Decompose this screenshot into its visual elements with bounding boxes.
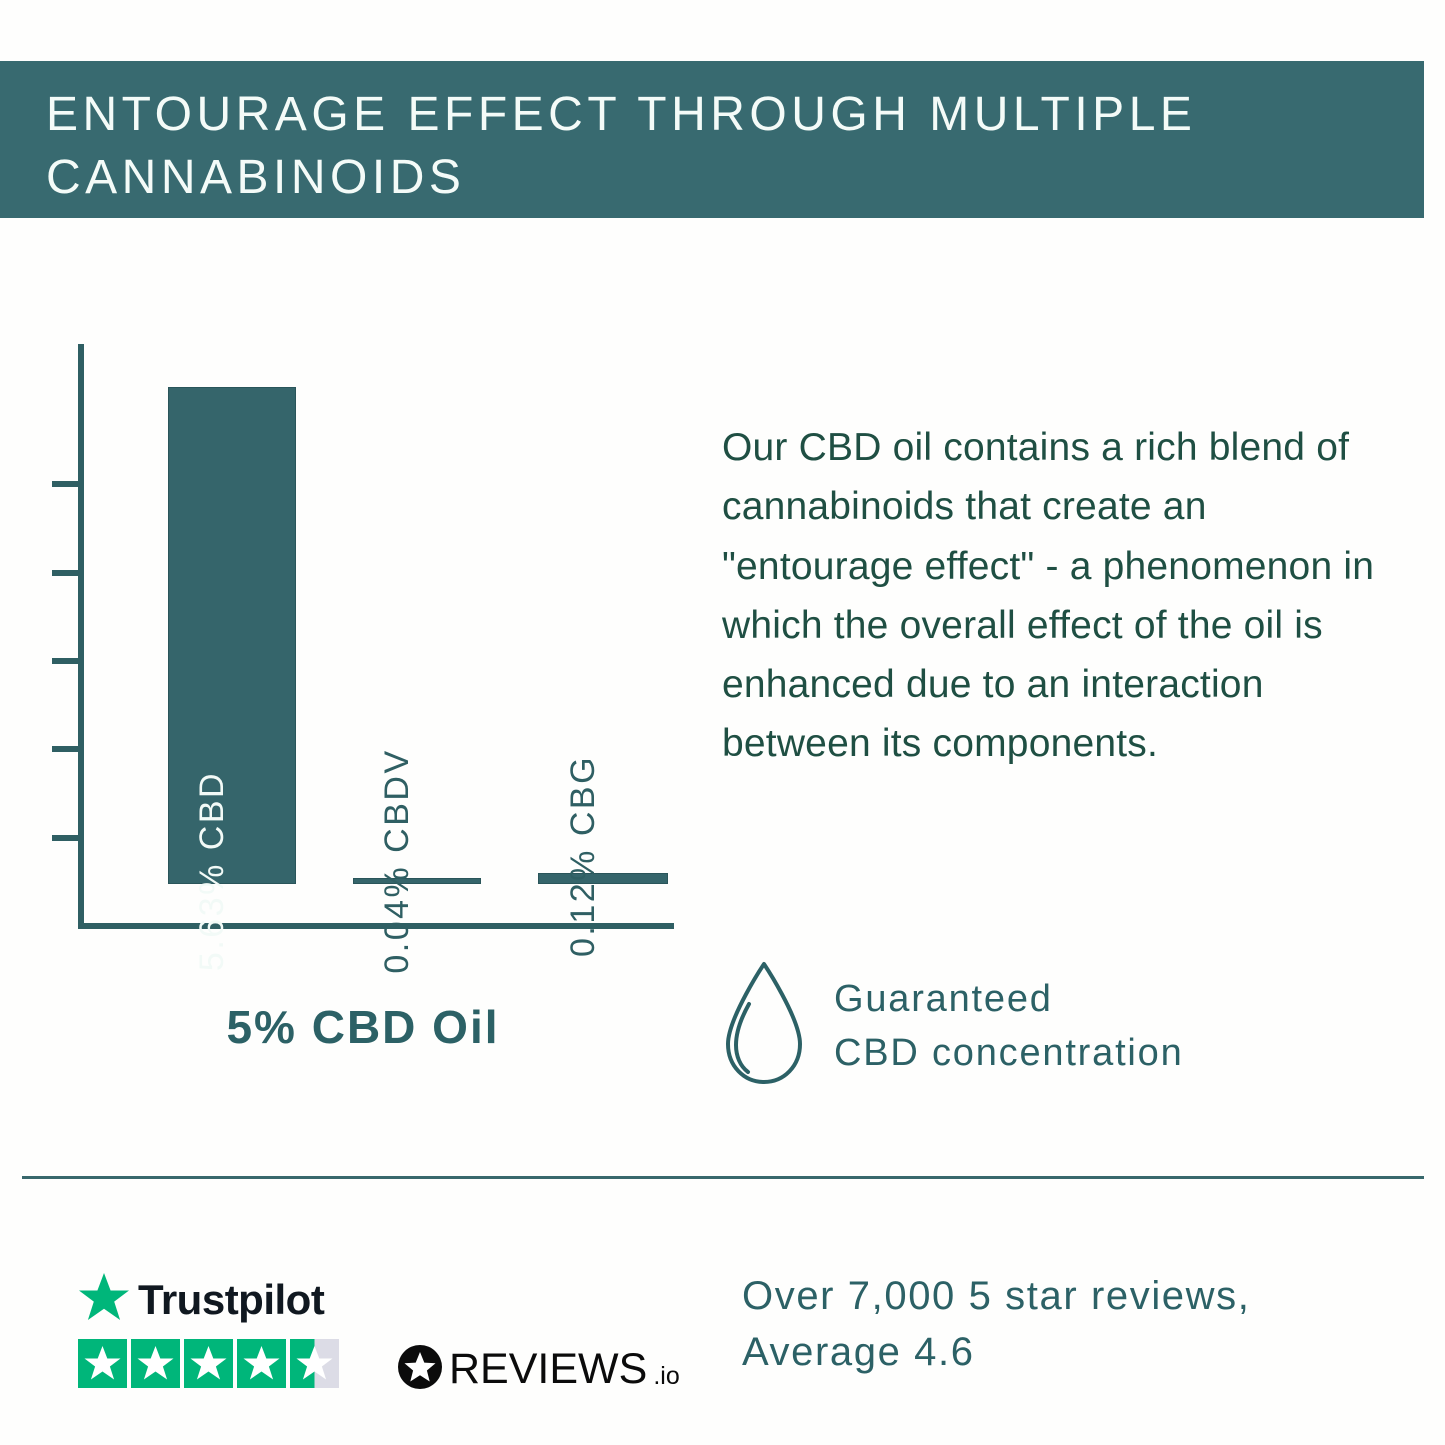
star-box-1 bbox=[78, 1339, 127, 1388]
infographic-page: ENTOURAGE EFFECT THROUGH MULTIPLE CANNAB… bbox=[0, 0, 1445, 1445]
trustpilot-wordmark: Trustpilot bbox=[138, 1276, 324, 1324]
trustpilot-widget[interactable]: Trustpilot bbox=[78, 1272, 378, 1388]
chart-caption: 5% CBD Oil bbox=[48, 1000, 678, 1054]
bar-group: 5.63% CBD 0.04% CBDV 0.12% CBG bbox=[84, 354, 678, 884]
star-box-5-half bbox=[290, 1339, 339, 1388]
y-axis-tick-4 bbox=[52, 570, 84, 576]
description-paragraph: Our CBD oil contains a rich blend of can… bbox=[722, 418, 1404, 774]
y-axis-tick-3 bbox=[52, 658, 84, 664]
guarantee-text: Guaranteed CBD concentration bbox=[834, 973, 1184, 1081]
reviewsio-wordmark: REVIEWS bbox=[449, 1345, 647, 1394]
y-axis-tick-2 bbox=[52, 746, 84, 752]
section-divider bbox=[22, 1176, 1424, 1179]
bar-cbd: 5.63% CBD bbox=[168, 387, 296, 884]
y-axis-tick-1 bbox=[52, 835, 84, 841]
reviewsio-widget[interactable]: REVIEWS .io bbox=[397, 1344, 680, 1395]
trustpilot-star-icon bbox=[78, 1272, 130, 1327]
droplet-icon bbox=[722, 960, 806, 1093]
bar-label-cbdv: 0.04% CBDV bbox=[378, 748, 417, 973]
star-box-3 bbox=[184, 1339, 233, 1388]
star-box-4 bbox=[237, 1339, 286, 1388]
reviewsio-tld: .io bbox=[653, 1362, 679, 1395]
header-banner: ENTOURAGE EFFECT THROUGH MULTIPLE CANNAB… bbox=[0, 61, 1424, 218]
guarantee-row: Guaranteed CBD concentration bbox=[722, 960, 1184, 1093]
trustpilot-star-rating bbox=[78, 1339, 378, 1388]
trustpilot-logo: Trustpilot bbox=[78, 1272, 378, 1327]
bar-cbdv: 0.04% CBDV bbox=[353, 878, 481, 884]
bar-cbg: 0.12% CBG bbox=[538, 873, 668, 884]
cannabinoid-bar-chart: 5.63% CBD 0.04% CBDV 0.12% CBG bbox=[48, 340, 688, 940]
reviews-summary-text: Over 7,000 5 star reviews, Average 4.6 bbox=[742, 1268, 1402, 1380]
bar-label-cbg: 0.12% CBG bbox=[564, 755, 603, 957]
page-title: ENTOURAGE EFFECT THROUGH MULTIPLE CANNAB… bbox=[46, 83, 1406, 210]
star-box-2 bbox=[131, 1339, 180, 1388]
y-axis-tick-5 bbox=[52, 481, 84, 487]
guarantee-line-2: CBD concentration bbox=[834, 1032, 1184, 1074]
guarantee-line-1: Guaranteed bbox=[834, 978, 1053, 1020]
bar-label-cbd: 5.63% CBD bbox=[193, 771, 232, 971]
star-badge-icon bbox=[397, 1344, 443, 1395]
